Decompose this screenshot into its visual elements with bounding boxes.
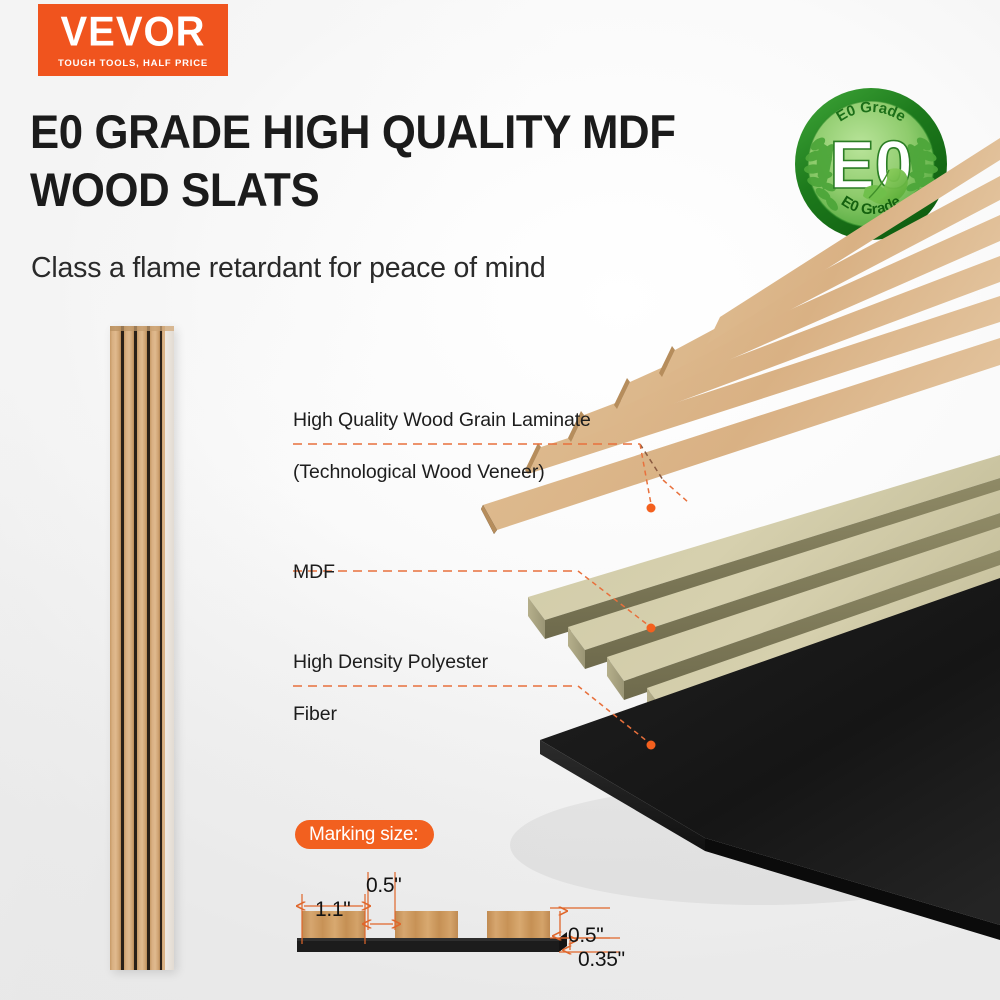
headline-line-1: E0 GRADE HIGH QUALITY MDF bbox=[30, 103, 681, 161]
polyester-fiber-board bbox=[540, 578, 1000, 940]
vevor-logo: VEVOR TOUGH TOOLS, HALF PRICE bbox=[38, 4, 228, 76]
page-title: E0 GRADE HIGH QUALITY MDF WOOD SLATS bbox=[30, 103, 681, 220]
annotation-fiber: High Density Polyester Fiber bbox=[293, 624, 488, 754]
page-subtitle: Class a flame retardant for peace of min… bbox=[31, 252, 546, 285]
annotation-fiber-line-1: High Density Polyester bbox=[293, 650, 488, 676]
panel-slat bbox=[124, 326, 134, 970]
e0-grade-badge: E0 E0 Grade E0 Grade bbox=[791, 84, 951, 244]
logo-tagline: TOUGH TOOLS, HALF PRICE bbox=[58, 58, 208, 69]
veneer-strip bbox=[617, 215, 1000, 409]
dimension-label-gap: 0.5" bbox=[366, 874, 401, 898]
mdf-bar bbox=[568, 490, 1000, 669]
dimension-label-width: 1.1" bbox=[315, 898, 350, 922]
annotation-veneer-line-2: (Technological Wood Veneer) bbox=[293, 460, 591, 486]
product-infographic: VEVOR TOUGH TOOLS, HALF PRICE E0 GRADE H… bbox=[0, 0, 1000, 1000]
veneer-strip bbox=[571, 256, 1000, 442]
annotation-veneer: High Quality Wood Grain Laminate (Techno… bbox=[293, 382, 591, 512]
panel-slat bbox=[150, 326, 160, 970]
panel-slat bbox=[110, 326, 121, 970]
annotation-mdf: MDF bbox=[293, 534, 335, 612]
veneer-strip bbox=[528, 296, 1000, 474]
panel-slat bbox=[137, 326, 147, 970]
annotation-veneer-line-1: High Quality Wood Grain Laminate bbox=[293, 408, 591, 434]
mdf-bar bbox=[647, 565, 1000, 730]
mdf-bar bbox=[528, 455, 1000, 639]
wood-slat-panel-sample bbox=[110, 326, 174, 970]
logo-wordmark: VEVOR bbox=[60, 11, 205, 53]
slat-block bbox=[395, 911, 458, 938]
marking-size-label: Marking size: bbox=[309, 824, 418, 846]
headline-line-2: WOOD SLATS bbox=[30, 161, 681, 219]
dimension-label-height: 0.5" bbox=[568, 924, 603, 948]
panel-side-edge bbox=[165, 326, 174, 970]
annotation-mdf-line-1: MDF bbox=[293, 560, 335, 586]
dimension-label-base-thickness: 0.35" bbox=[578, 948, 625, 972]
slat-block bbox=[487, 911, 550, 938]
e0-grade-badge-icon: E0 E0 Grade E0 Grade bbox=[791, 84, 951, 244]
base-board-cross-section bbox=[297, 932, 567, 952]
mdf-bar bbox=[607, 527, 1000, 700]
marking-size-badge: Marking size: bbox=[295, 820, 434, 849]
annotation-fiber-line-2: Fiber bbox=[293, 702, 488, 728]
mdf-bar-group bbox=[528, 455, 1000, 761]
panel-top-edge bbox=[110, 326, 174, 331]
mdf-bar bbox=[687, 603, 1000, 761]
